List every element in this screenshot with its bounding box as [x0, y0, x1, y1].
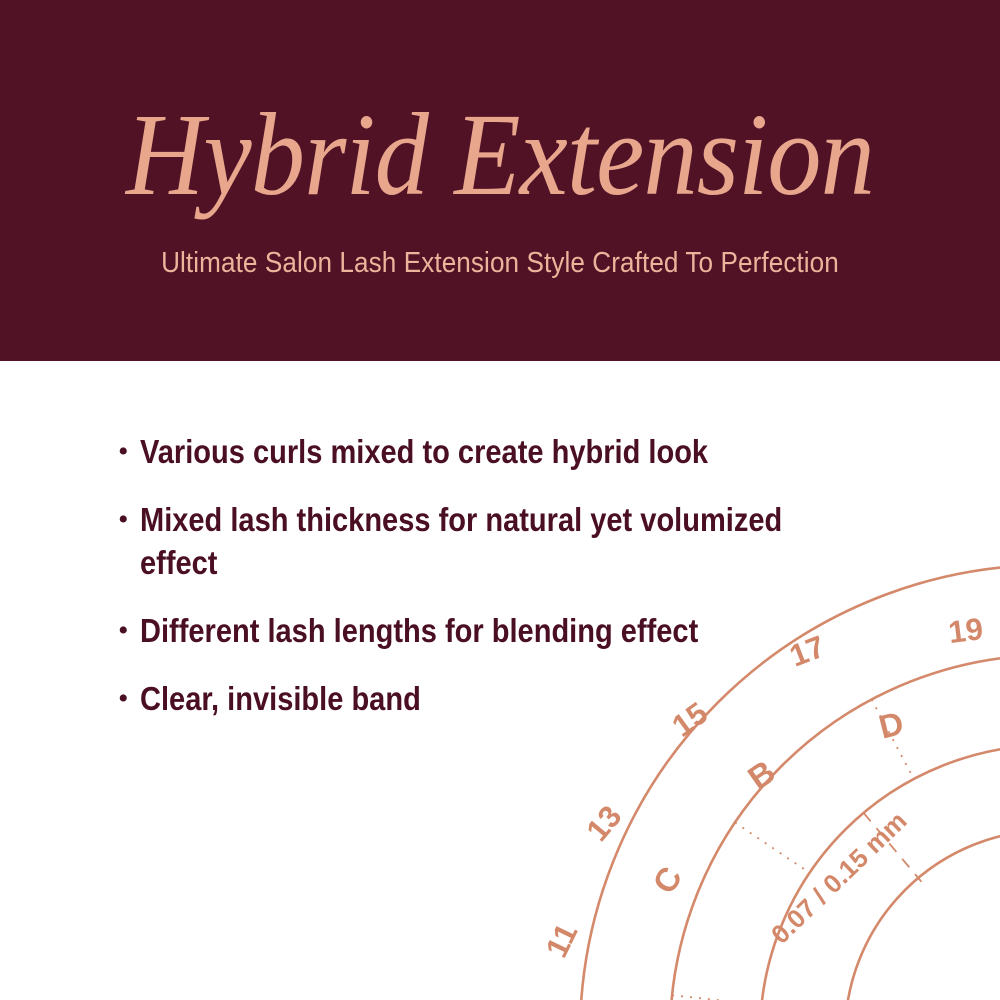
list-item: • Different lash lengths for blending ef… — [118, 609, 878, 652]
list-item: • Clear, invisible band — [118, 677, 878, 720]
curl-ring-separators — [760, 813, 921, 1000]
poster-canvas: Hybrid Extension Ultimate Salon Lash Ext… — [0, 0, 1000, 1000]
length-label-11: 11 — [539, 918, 585, 963]
list-item: • Mixed lash thickness for natural yet v… — [118, 498, 878, 584]
length-label-13: 13 — [579, 799, 628, 848]
feature-text: Different lash lengths for blending effe… — [140, 609, 789, 652]
curl-label-C: C — [645, 860, 689, 900]
page-title: Hybrid Extension — [40, 96, 960, 214]
bullet-dot-icon: • — [118, 430, 140, 473]
feature-text: Various curls mixed to create hybrid loo… — [140, 430, 789, 473]
header-band: Hybrid Extension Ultimate Salon Lash Ext… — [0, 0, 1000, 361]
length-label-19: 19 — [946, 611, 984, 650]
feature-text: Mixed lash thickness for natural yet vol… — [140, 498, 789, 584]
bullet-dot-icon: • — [118, 609, 140, 652]
curl-label-D: D — [875, 704, 907, 746]
page-subtitle: Ultimate Salon Lash Extension Style Craf… — [50, 246, 950, 281]
bullet-dot-icon: • — [118, 498, 140, 541]
curl-label-B: B — [741, 753, 782, 797]
list-item: • Various curls mixed to create hybrid l… — [118, 430, 878, 473]
thickness-ring-labels: 0.07 / 0.15 mm — [765, 805, 913, 949]
bullet-dot-icon: • — [118, 677, 140, 720]
feature-list: • Various curls mixed to create hybrid l… — [118, 430, 878, 745]
thickness-label: 0.07 / 0.15 mm — [765, 805, 913, 949]
feature-text: Clear, invisible band — [140, 677, 789, 720]
curl-ring-inner-arc — [760, 745, 1000, 1000]
thickness-ring-inner-arc — [845, 830, 1000, 1000]
